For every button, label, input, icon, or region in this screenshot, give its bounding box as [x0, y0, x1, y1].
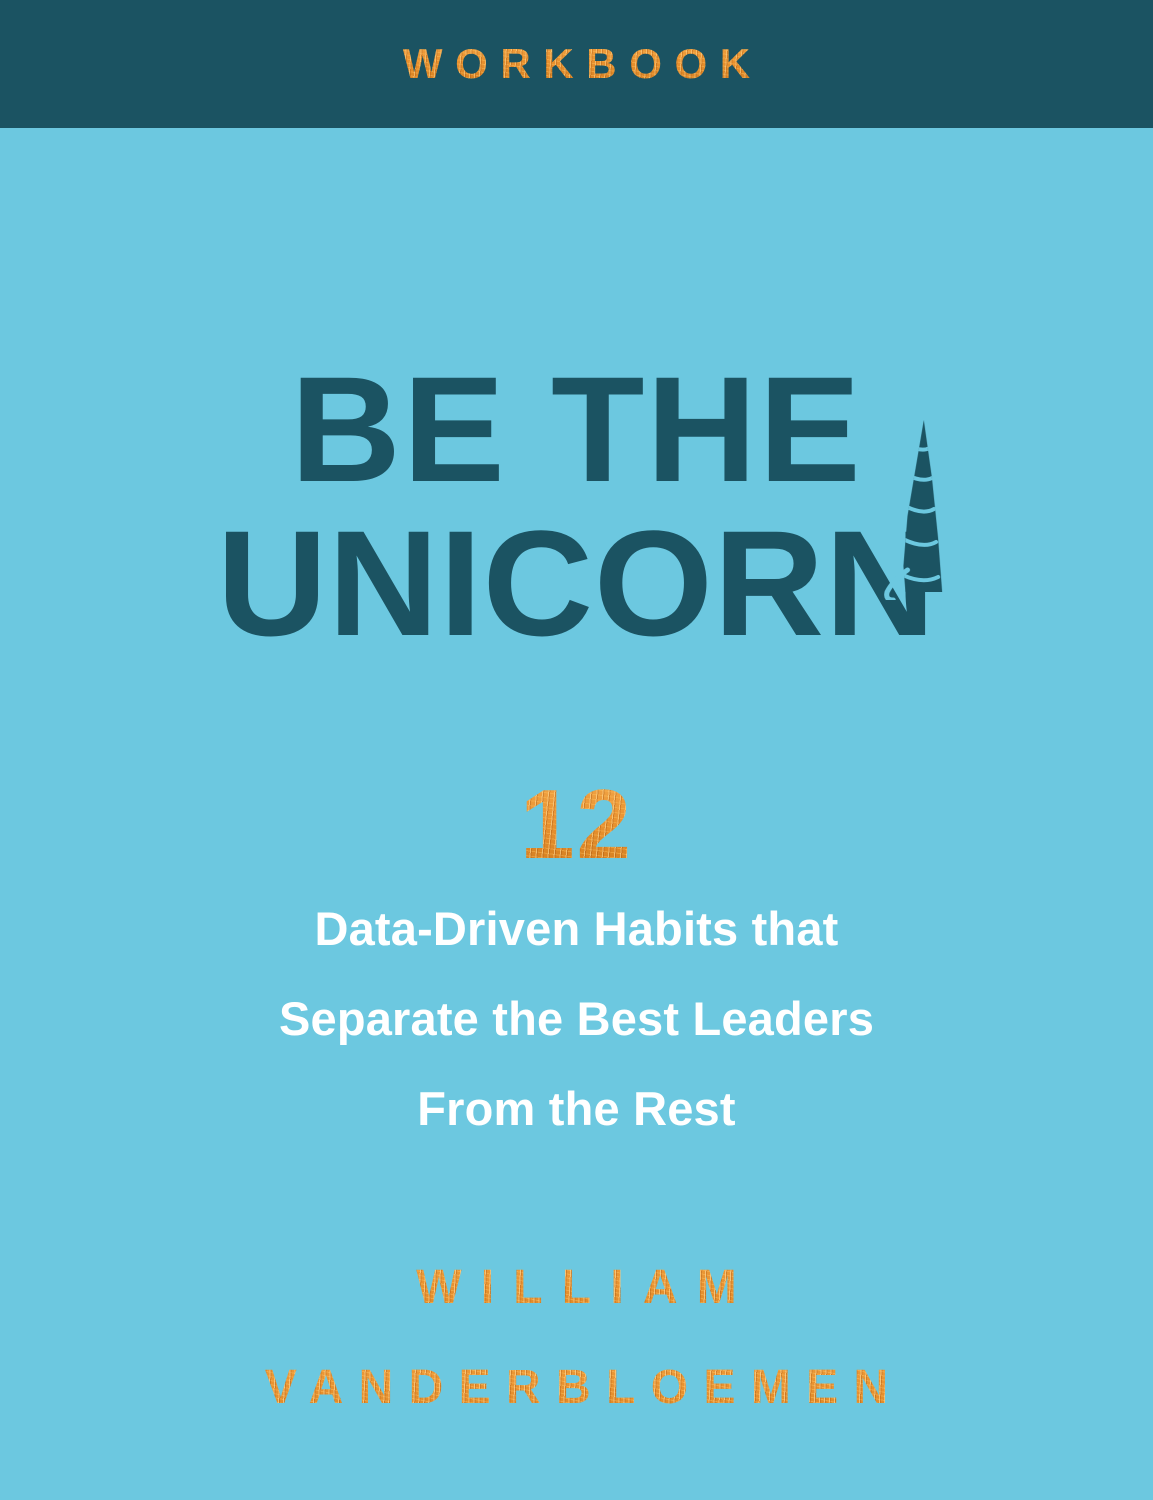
title-line-two-text: UNICORN [217, 499, 936, 667]
workbook-banner: WORKBOOK [0, 0, 1153, 128]
title-line-two-wrapper: UNICORN [0, 506, 1153, 660]
page-title: BE THE UNICORN [0, 352, 1153, 660]
workbook-label: WORKBOOK [390, 43, 762, 85]
subtitle-line-three: From the Rest [0, 1064, 1153, 1154]
book-cover: WORKBOOK BE THE UNICORN [0, 0, 1153, 1500]
subtitle-line-two: Separate the Best Leaders [0, 974, 1153, 1064]
habit-count-numeral: 12 [0, 775, 1153, 873]
subtitle-line-one: Data-Driven Habits that [0, 884, 1153, 974]
title-line-one: BE THE [0, 352, 1153, 506]
author-name: WILLIAM VANDERBLOEMEN [0, 1238, 1153, 1438]
author-first-name: WILLIAM [0, 1238, 1153, 1338]
title-line-two: UNICORN [217, 506, 936, 660]
subtitle: Data-Driven Habits that Separate the Bes… [0, 884, 1153, 1154]
author-last-name: VANDERBLOEMEN [0, 1338, 1153, 1438]
